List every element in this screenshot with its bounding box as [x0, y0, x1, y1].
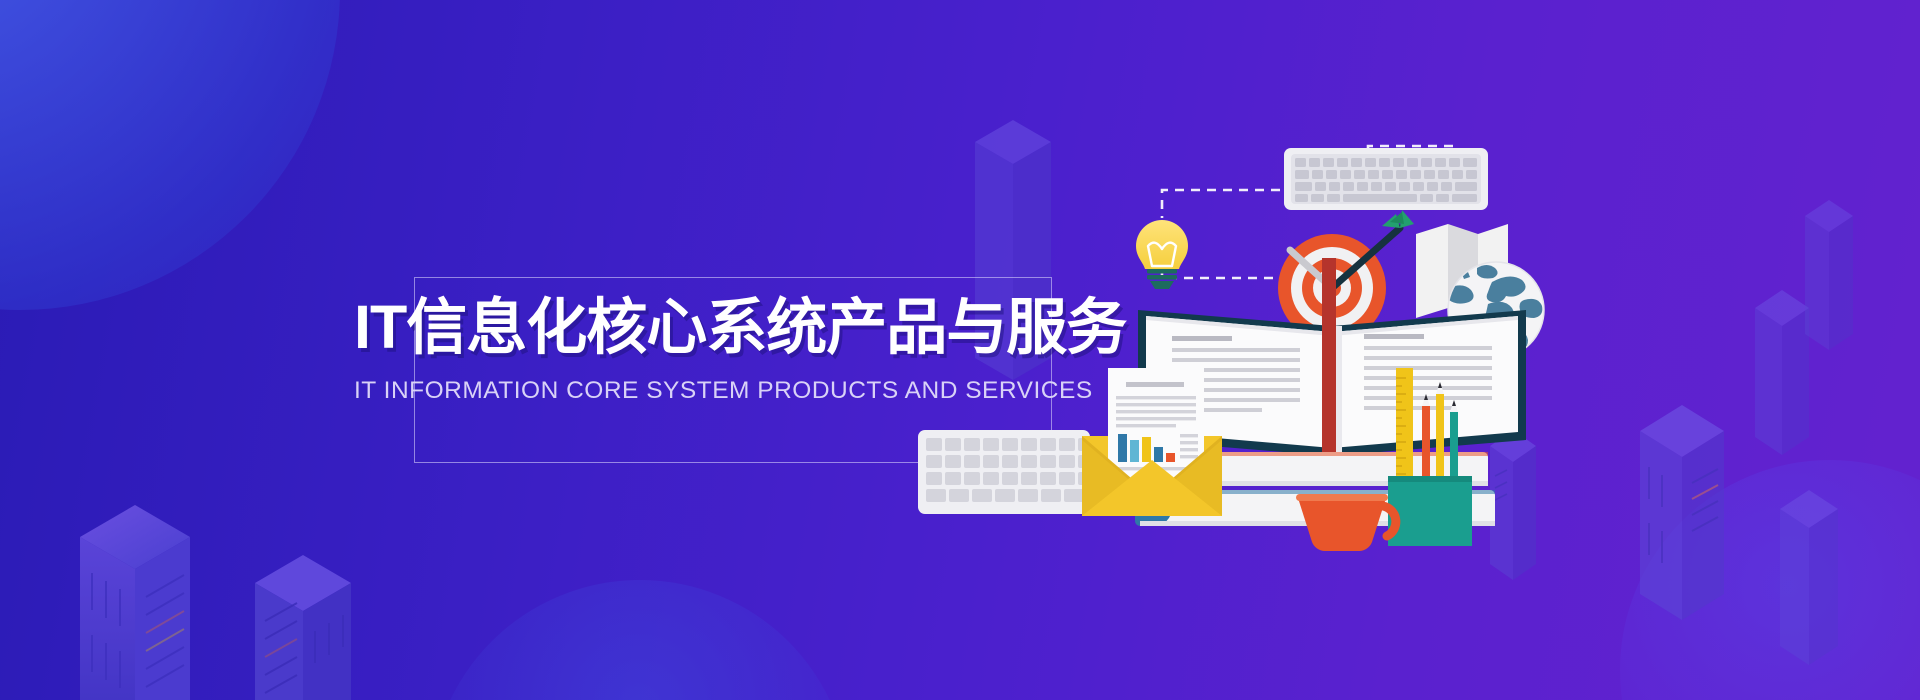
- pencil-red-icon: [1422, 394, 1430, 482]
- keyboard-top-icon: [1284, 148, 1488, 210]
- report-document-icon: [1108, 368, 1204, 478]
- background-circle-bottom-center: [430, 580, 850, 700]
- hero-illustration: [1100, 140, 1570, 580]
- background-circle-top-left: [0, 0, 340, 310]
- illustration-svg: [1100, 140, 1570, 580]
- pencil-teal-icon: [1450, 400, 1458, 482]
- background-tower-right-3: [1805, 200, 1873, 350]
- background-tower-left-2: [255, 555, 385, 700]
- it-services-banner: IT信息化核心系统产品与服务 IT INFORMATION CORE SYSTE…: [0, 0, 1920, 700]
- keyboard-bottom-icon: [918, 430, 1091, 514]
- background-tower-left-1: [80, 505, 230, 700]
- ruler-icon: [1396, 368, 1413, 494]
- background-tower-right-1: [1640, 405, 1755, 620]
- background-tower-right-4: [1780, 490, 1860, 665]
- lightbulb-icon: [1136, 220, 1188, 289]
- pencil-orange-icon: [1436, 382, 1444, 482]
- page-title: IT信息化核心系统产品与服务: [354, 297, 1114, 358]
- page-subtitle: IT INFORMATION CORE SYSTEM PRODUCTS AND …: [354, 377, 1114, 405]
